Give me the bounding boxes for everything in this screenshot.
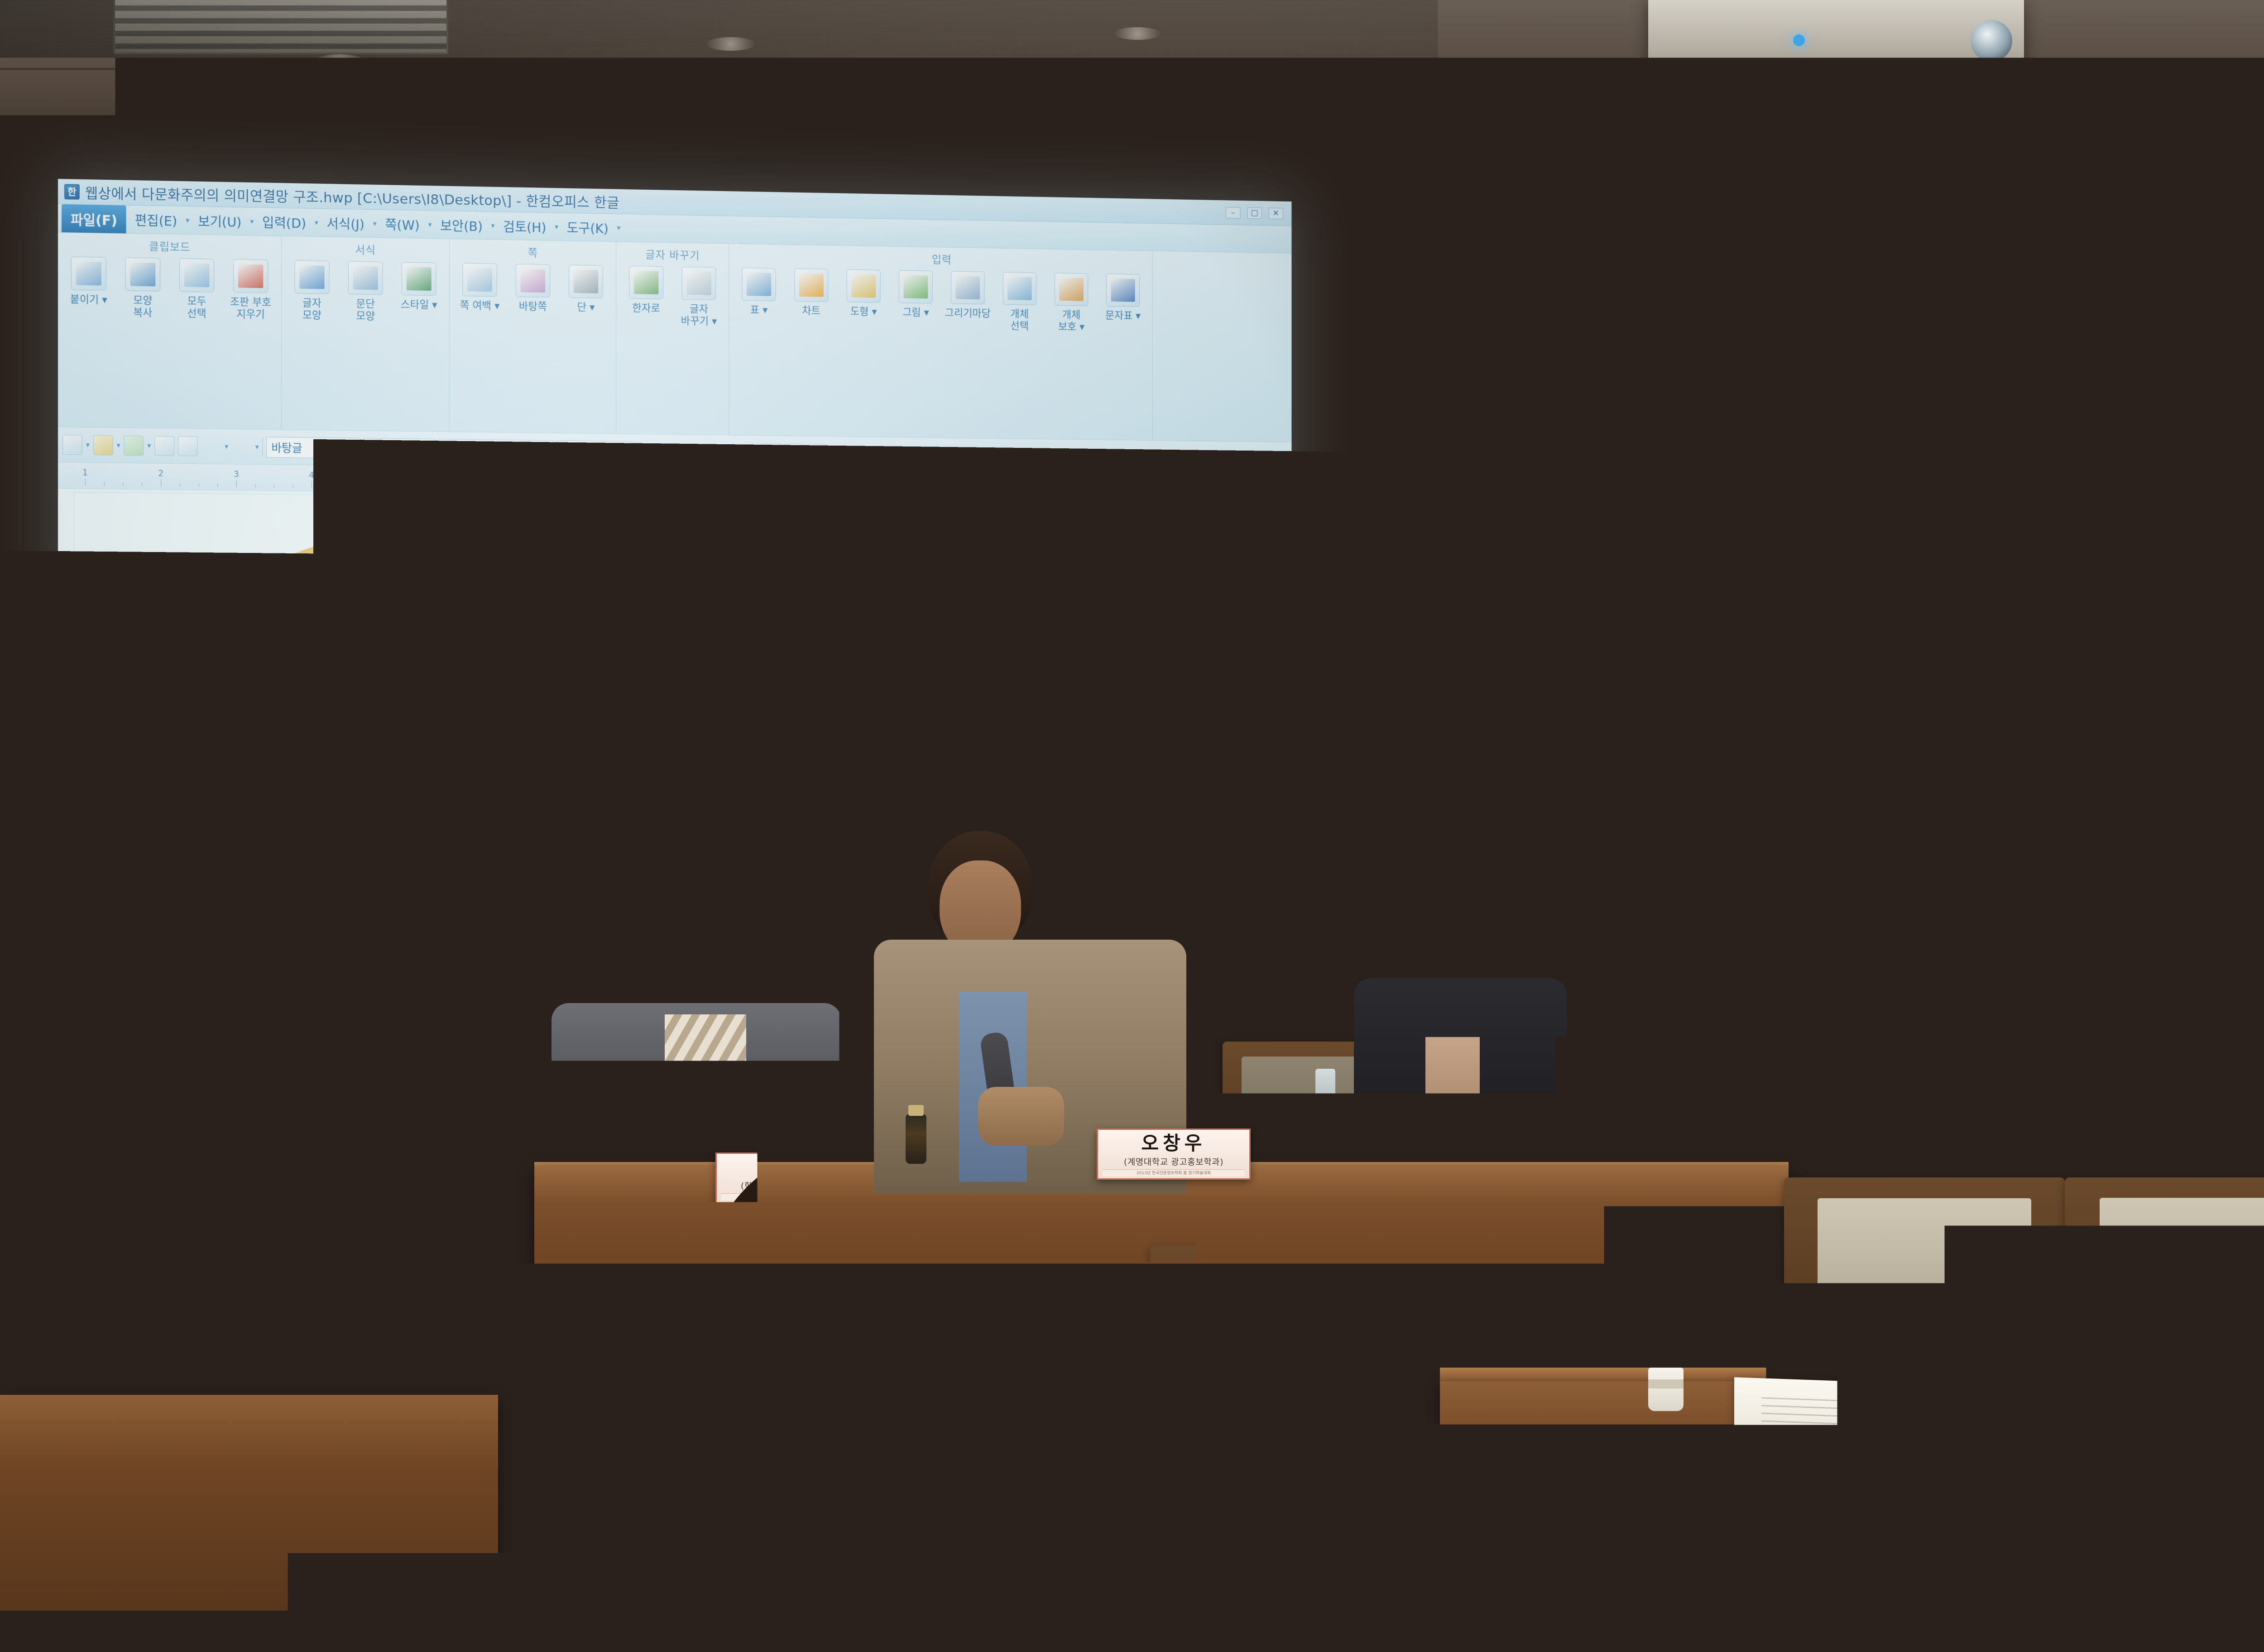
banner-sponsor-line: 「다문화」 연구팀 후원 한국연구재단 [1340,272,1884,301]
ceiling-projector [1648,0,2024,86]
nameplate-center: 오창우 (계명대학교 광고홍보학과) 2013년 한국언론정보학회 봄 정기학술… [1097,1129,1251,1180]
audience-shoulders [2083,1531,2264,1652]
eyeglasses [673,970,741,992]
cup-band [1648,1379,1684,1388]
nameplate-affiliation: (계명대학교 광고홍보학과) [1103,1155,1245,1167]
nameplate-affiliation: (계명대학교 소비자정보학과) [1413,1145,1555,1157]
open-book [1734,1381,2187,1467]
event-banner: 「다문화」 연구팀 후원 한국연구재단 다문화적 변형 [1327,213,1911,589]
nameplate-name: 오창우 [1103,1133,1245,1154]
eyeglasses-on-table [82,1508,199,1540]
podium-emblem-icon [2137,1073,2264,1146]
banner-pole [1902,208,1908,616]
nameplate-right: 김민정 (계명대학교 소비자정보학과) 2013년 한국언론정보학회 봄 정기학… [1407,1119,1561,1170]
paper-cup [1648,1368,1684,1411]
projector-plate [1675,107,1911,132]
nameplate-name: 김민정 [1413,1123,1555,1144]
floral-print [978,1508,1022,1558]
floral-print [915,1463,969,1531]
ceiling-vent [113,0,448,54]
paper-document [1317,1130,1423,1188]
banner-lower-panel [1435,575,1725,648]
banner-sponsor-label: 후원 한국연구재단 [1532,272,1693,301]
book-left-page [1734,1377,1961,1471]
chair-tag: 의자 [1196,1407,1358,1441]
water-bottle [1315,1069,1335,1123]
audience-chair[interactable]: 의자 [1150,1245,1404,1458]
projector-lens-icon [1971,20,2012,62]
beverage-bottle [1576,1123,1597,1173]
audience-chair[interactable] [1141,1463,1449,1652]
microphone-stand [1603,969,1609,1177]
ceiling-light [706,37,755,51]
chair-tag: 의자 [1835,1336,2015,1369]
panelist-neckline [1425,1037,1480,1119]
beverage-bottle [906,1114,926,1164]
nameplate-event-strip: 2013년 한국언론정보학회 봄 정기학술대회 [1413,1159,1555,1167]
projector-power-led [1793,34,1805,46]
chair-tag: 의자 [52,1451,238,1486]
floral-print [724,1513,774,1567]
paper-document [103,1537,237,1605]
eyeglasses [1417,927,1485,949]
ceiling-light [1114,27,1161,40]
audience-hair [700,1146,989,1463]
audience-chair[interactable]: 의자 [1784,1177,2065,1386]
banner-ring-decoration [1340,408,1902,539]
banner-team-label: 「다문화」 연구팀 [1340,272,1505,301]
conference-room: 시2 「다문화」 연구팀 후원 한국연구재단 다문화적 변형 [0,0,2264,1652]
ceiling-seam [0,117,2264,119]
ceiling-light [312,54,367,70]
chair-tag: 의자 [1398,1369,1572,1401]
book-bookmark-tab [2146,1382,2201,1404]
audience-shoulders [231,1300,548,1617]
beverage-bottle [1250,1105,1271,1155]
bottle-cap [1252,1096,1268,1107]
paper-document [624,1143,721,1198]
nameplate-event-strip: 2013년 한국언론정보학회 봄 정기학술대회 [1103,1169,1245,1177]
banner-title: 다문화적 변형 [1338,326,1691,408]
bottle-cap [908,1105,924,1116]
panelist-hand [978,1087,1064,1146]
microphone-base [1558,1168,1657,1184]
panelist-scarf [665,1014,746,1128]
microphone-head-icon [1502,941,1531,962]
